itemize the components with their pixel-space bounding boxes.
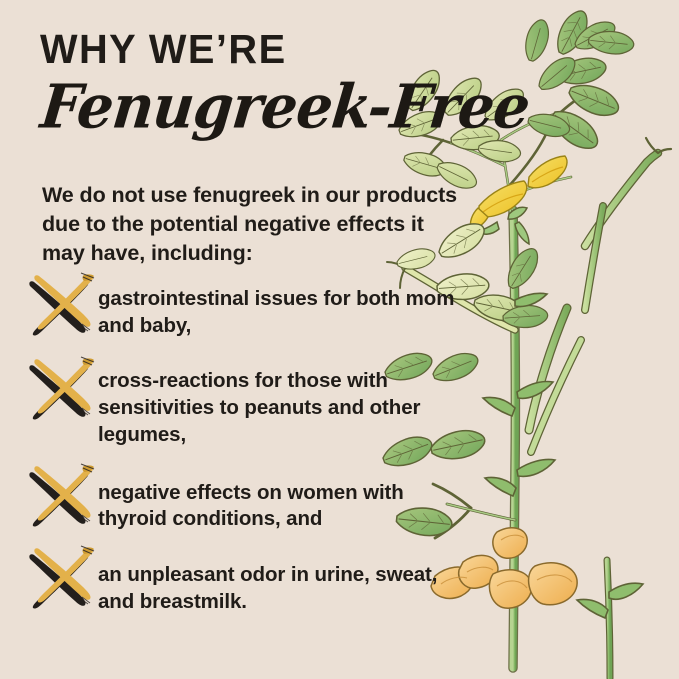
x-mark-icon — [26, 545, 98, 611]
list-item-label: negative effects on women with thyroid c… — [98, 469, 466, 534]
reasons-list: gastrointestinal issues for both mom and… — [26, 278, 466, 634]
intro-paragraph: We do not use fenugreek in our products … — [42, 181, 460, 269]
poster-canvas: WHY WE’RE Fenugreek-Free We do not use f… — [0, 0, 679, 679]
list-item-label: cross-reactions for those with sensitivi… — [98, 362, 466, 449]
list-item: negative effects on women with thyroid c… — [26, 469, 466, 534]
list-item: gastrointestinal issues for both mom and… — [26, 278, 466, 340]
text-column: WHY WE’RE Fenugreek-Free We do not use f… — [0, 0, 470, 679]
list-item-label: an unpleasant odor in urine, sweat, and … — [98, 551, 466, 616]
list-item: an unpleasant odor in urine, sweat, and … — [26, 551, 466, 616]
x-mark-icon — [26, 272, 98, 338]
list-item: cross-reactions for those with sensitivi… — [26, 362, 466, 449]
page-title-script: Fenugreek-Free — [38, 77, 532, 137]
page-eyebrow-heading: WHY WE’RE — [40, 29, 287, 70]
x-mark-icon — [26, 463, 98, 529]
x-mark-icon — [26, 356, 98, 422]
list-item-label: gastrointestinal issues for both mom and… — [98, 278, 466, 340]
